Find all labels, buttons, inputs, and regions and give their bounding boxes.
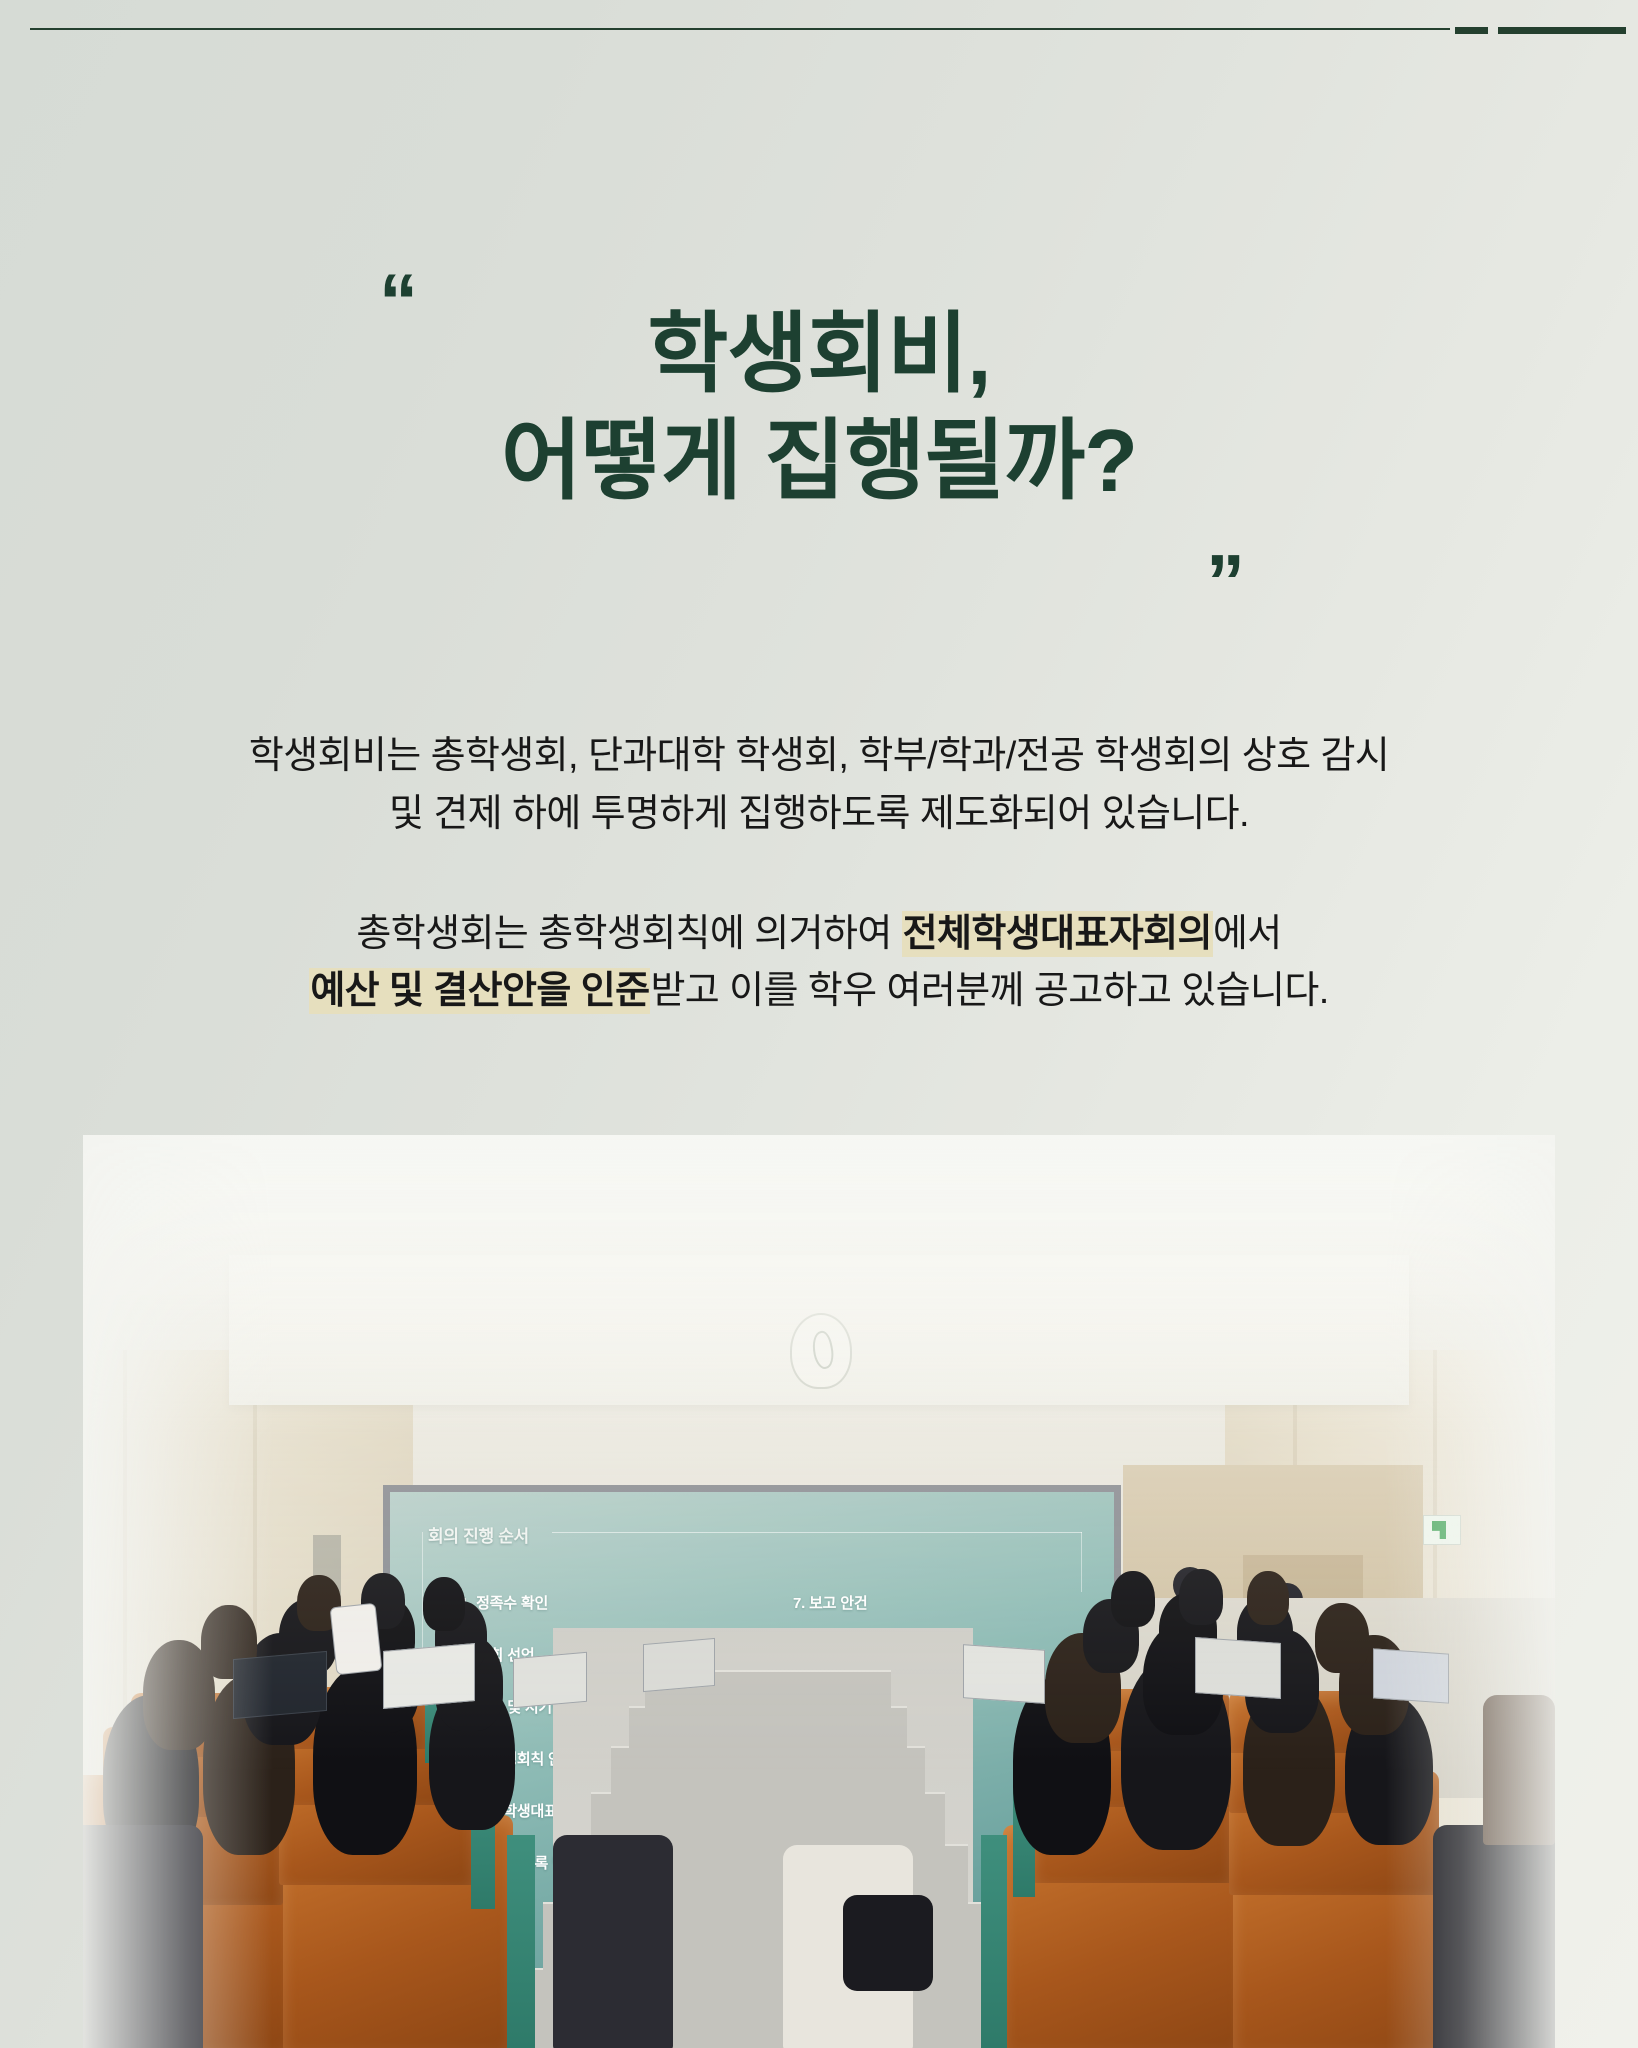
- agenda-item: 7. 보고 안건: [793, 1592, 1074, 1613]
- divider-accent-segment-1: [1455, 27, 1488, 34]
- attendee-laptop: [1373, 1648, 1449, 1703]
- backpack: [843, 1895, 933, 1991]
- p2-l1-before: 총학생회는 총학생회칙에 의거하여: [356, 913, 901, 955]
- attendee-head: [1179, 1569, 1223, 1625]
- slide-title-rule: [552, 1532, 1082, 1533]
- university-seal-icon: [790, 1313, 852, 1389]
- photo-inner: 회의 진행 순서 1. 정족수 확인 2. 개회 선언 3. 의장 및 서기단 …: [83, 1135, 1555, 2048]
- auditorium-photo: 회의 진행 순서 1. 정족수 확인 2. 개회 선언 3. 의장 및 서기단 …: [83, 1135, 1555, 2048]
- attendee-laptop: [643, 1638, 715, 1692]
- slide-right-rule: [1081, 1532, 1082, 1592]
- stair-step: [611, 1746, 925, 1794]
- attendee-torso: [1483, 1695, 1555, 1845]
- quote-close-mark: „: [1206, 499, 1241, 577]
- slide-title: 회의 진행 순서: [428, 1522, 529, 1547]
- attendee-phone: [330, 1603, 383, 1675]
- ceiling-strip: [143, 1153, 1483, 1160]
- attendee-laptop: [513, 1652, 587, 1708]
- p2-l1-highlight: 전체학생대표자회의: [902, 911, 1213, 957]
- stair-step: [629, 1706, 907, 1748]
- paragraph-2-line-1: 총학생회는 총학생회칙에 의거하여 전체학생대표자회의에서: [0, 906, 1638, 964]
- seat-side-panel: [981, 1835, 1007, 2048]
- agenda-item: 1. 정족수 확인: [460, 1592, 741, 1613]
- attendee-laptop: [963, 1644, 1045, 1704]
- paragraph-1: 학생회비는 총학생회, 단과대학 학생회, 학부/학과/전공 학생회의 상호 감…: [0, 728, 1638, 844]
- divider-thin-line: [30, 28, 1450, 30]
- paragraph-1-line-2: 및 견제 하에 투명하게 집행하도록 제도화되어 있습니다.: [0, 786, 1638, 844]
- headline-line-1: 학생회비,: [501, 300, 1137, 407]
- attendee-head: [423, 1577, 465, 1631]
- attendee-head: [1247, 1571, 1289, 1625]
- exit-sign-icon: [1423, 1515, 1461, 1545]
- divider-accent-segment-2: [1498, 27, 1626, 34]
- attendee-laptop: [1195, 1637, 1281, 1699]
- attendee-torso: [83, 1825, 203, 2048]
- seat-side-panel: [507, 1835, 535, 2048]
- attendee-torso: [553, 1835, 673, 2048]
- attendee-laptop: [383, 1643, 475, 1709]
- headline-inner: “ 학생회비, 어떻게 집행될까? „: [501, 300, 1137, 515]
- attendee-laptop: [233, 1651, 327, 1719]
- attendee-head: [1315, 1603, 1369, 1673]
- ceiling-strip: [193, 1183, 1433, 1190]
- headline-line-2: 어떻게 집행될까?: [501, 407, 1137, 514]
- poster-page: “ 학생회비, 어떻게 집행될까? „ 학생회비는 총학생회, 단과대학 학생회…: [0, 0, 1638, 2048]
- quote-open-mark: “: [379, 262, 414, 340]
- paragraph-2-line-2: 예산 및 결산안을 인준받고 이를 학우 여러분께 공고하고 있습니다.: [0, 963, 1638, 1021]
- body-copy-block: 학생회비는 총학생회, 단과대학 학생회, 학부/학과/전공 학생회의 상호 감…: [0, 728, 1638, 1021]
- attendee-torso: [1433, 1825, 1555, 2048]
- ceiling-strip: [233, 1213, 1393, 1220]
- p2-l2-after: 받고 이를 학우 여러분께 공고하고 있습니다.: [650, 970, 1328, 1012]
- paragraph-1-line-1: 학생회비는 총학생회, 단과대학 학생회, 학부/학과/전공 학생회의 상호 감…: [0, 728, 1638, 786]
- paragraph-2: 총학생회는 총학생회칙에 의거하여 전체학생대표자회의에서 예산 및 결산안을 …: [0, 906, 1638, 1022]
- p2-l1-after: 에서: [1213, 913, 1282, 955]
- attendee-head: [1111, 1571, 1155, 1627]
- top-divider-rule: [30, 27, 1608, 30]
- p2-l2-highlight: 예산 및 결산안을 인준: [309, 968, 650, 1014]
- headline-block: “ 학생회비, 어떻게 집행될까? „: [0, 300, 1638, 515]
